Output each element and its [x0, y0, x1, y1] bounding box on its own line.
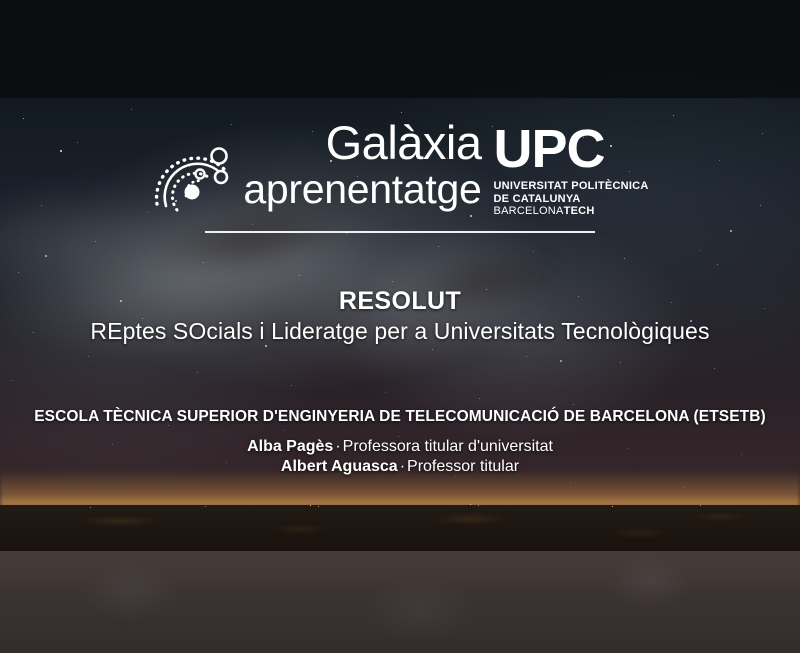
- upc-fullname: UNIVERSITAT POLITÈCNICA DE CATALUNYA BAR…: [493, 180, 648, 218]
- presenter-name: Albert Aguasca: [281, 458, 398, 475]
- project-title: RESOLUT: [0, 287, 800, 316]
- upc-barcelona-word: BARCELONA: [493, 205, 563, 217]
- presentation-slide: Galàxia aprenentatge UPC UNIVERSITAT POL…: [0, 0, 800, 653]
- galaxia-aprenentatge-wordmark: Galàxia aprenentatge: [243, 120, 481, 211]
- horizontal-divider: [205, 231, 595, 233]
- project-subtitle: REptes SOcials i Lideratge per a Univers…: [0, 318, 800, 345]
- logo-lockup: Galàxia aprenentatge UPC UNIVERSITAT POL…: [0, 118, 800, 218]
- brand-line-aprenentatge: aprenentatge: [243, 167, 481, 211]
- upc-fullname-line2: DE CATALUNYA: [493, 193, 580, 205]
- presenter-role: Professor titular: [407, 458, 519, 475]
- presenter-separator: ·: [398, 458, 407, 475]
- presenter-role: Professora titular d'universitat: [343, 438, 553, 455]
- galaxy-orbit-icon: [151, 130, 237, 218]
- upc-tech-word: TECH: [564, 205, 595, 217]
- school-name: ESCOLA TÈCNICA SUPERIOR D'ENGINYERIA DE …: [0, 408, 800, 426]
- presenter-row: Albert Aguasca·Professor titular: [0, 457, 800, 477]
- presenter-name: Alba Pagès: [247, 438, 333, 455]
- presenter-separator: ·: [333, 438, 342, 455]
- presenter-row: Alba Pagès·Professora titular d'universi…: [0, 437, 800, 457]
- slide-content: Galàxia aprenentatge UPC UNIVERSITAT POL…: [0, 0, 800, 653]
- upc-logo: UPC UNIVERSITAT POLITÈCNICA DE CATALUNYA…: [493, 124, 648, 218]
- presenters-list: Alba Pagès·Professora titular d'universi…: [0, 437, 800, 477]
- upc-fullname-line1: UNIVERSITAT POLITÈCNICA: [493, 180, 648, 192]
- brand-line-galaxia: Galàxia: [326, 120, 482, 166]
- upc-acronym: UPC: [493, 124, 604, 174]
